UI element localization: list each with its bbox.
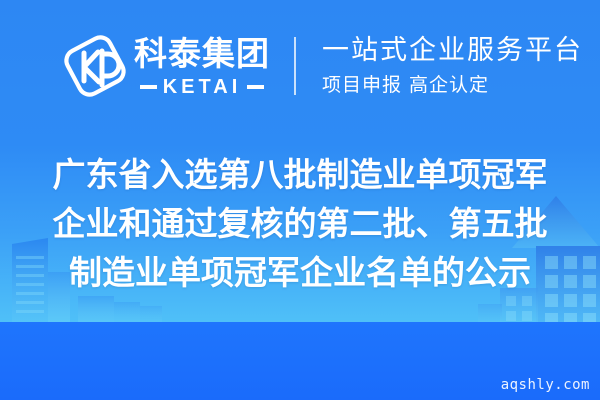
- logo-english-row: KETAI: [140, 76, 265, 98]
- logo-dash-right-icon: [247, 85, 264, 89]
- banner-header: 科泰集团 KETAI 一站式企业服务平台 项目申报 高企认定: [0, 0, 600, 132]
- slogan-secondary: 项目申报 高企认定: [322, 72, 583, 98]
- ketai-diamond-monogram-icon: [62, 33, 128, 99]
- headline-line-3: 制造业单项冠军企业名单的公示: [0, 248, 600, 297]
- site-watermark: aqshly.com: [501, 377, 590, 393]
- headline-block: 广东省入选第八批制造业单项冠军 企业和通过复核的第二批、第五批 制造业单项冠军企…: [0, 150, 600, 297]
- header-divider: [294, 37, 296, 95]
- logo-english-name: KETAI: [163, 76, 242, 98]
- brand-slogan: 一站式企业服务平台 项目申报 高企认定: [322, 34, 583, 98]
- logo-dash-left-icon: [140, 85, 157, 89]
- slogan-primary: 一站式企业服务平台: [322, 34, 583, 68]
- headline-line-1: 广东省入选第八批制造业单项冠军: [0, 150, 600, 199]
- brand-logo[interactable]: 科泰集团 KETAI: [62, 33, 270, 99]
- logo-chinese-name: 科泰集团: [134, 35, 270, 73]
- headline-line-2: 企业和通过复核的第二批、第五批: [0, 199, 600, 248]
- promo-banner: 科泰集团 KETAI 一站式企业服务平台 项目申报 高企认定 广东省入选第八批制…: [0, 0, 600, 400]
